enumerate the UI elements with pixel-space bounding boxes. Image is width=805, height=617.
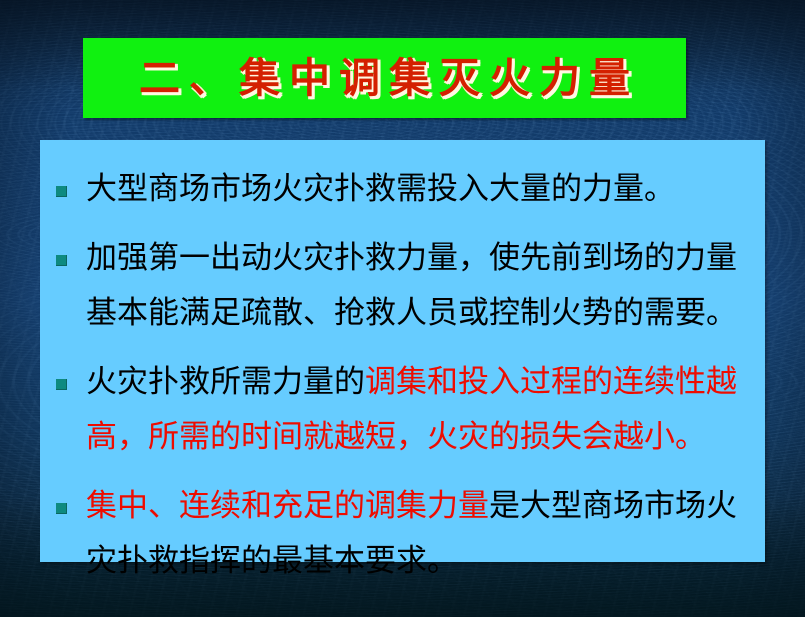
bullet-list: 大型商场市场火灾扑救需投入大量的力量。加强第一出动火灾扑救力量，使先前到场的力量… <box>40 140 765 589</box>
bullet-text-run: 大型商场市场火灾扑救需投入大量的力量。 <box>86 171 675 207</box>
square-bullet-icon <box>56 255 67 266</box>
bullet-text-run: 火灾扑救所需力量的 <box>86 364 365 400</box>
content-panel: 大型商场市场火灾扑救需投入大量的力量。加强第一出动火灾扑救力量，使先前到场的力量… <box>40 140 765 562</box>
title-banner: 二、集中调集灭火力量 <box>83 38 686 118</box>
square-bullet-icon <box>56 186 67 197</box>
bullet-item: 大型商场市场火灾扑救需投入大量的力量。 <box>48 162 749 217</box>
bullet-text: 火灾扑救所需力量的调集和投入过程的连续性越高，所需的时间就越短，火灾的损失会越小… <box>86 355 749 465</box>
bullet-text-run: 集中、连续和充足的调集力量 <box>86 488 489 524</box>
square-bullet-icon <box>56 379 67 390</box>
bullet-item: 火灾扑救所需力量的调集和投入过程的连续性越高，所需的时间就越短，火灾的损失会越小… <box>48 355 749 465</box>
bullet-item: 加强第一出动火灾扑救力量，使先前到场的力量基本能满足疏散、抢救人员或控制火势的需… <box>48 231 749 341</box>
bullet-item: 集中、连续和充足的调集力量是大型商场市场火灾扑救指挥的最基本要求。 <box>48 479 749 589</box>
bullet-text: 加强第一出动火灾扑救力量，使先前到场的力量基本能满足疏散、抢救人员或控制火势的需… <box>86 231 749 341</box>
presentation-slide: 二、集中调集灭火力量 大型商场市场火灾扑救需投入大量的力量。加强第一出动火灾扑救… <box>0 0 805 617</box>
bullet-text-run: 加强第一出动火灾扑救力量，使先前到场的力量基本能满足疏散、抢救人员或控制火势的需… <box>86 240 737 331</box>
slide-title: 二、集中调集灭火力量 <box>130 58 639 99</box>
bullet-text: 大型商场市场火灾扑救需投入大量的力量。 <box>86 162 749 217</box>
bullet-text: 集中、连续和充足的调集力量是大型商场市场火灾扑救指挥的最基本要求。 <box>86 479 749 589</box>
square-bullet-icon <box>56 503 67 514</box>
